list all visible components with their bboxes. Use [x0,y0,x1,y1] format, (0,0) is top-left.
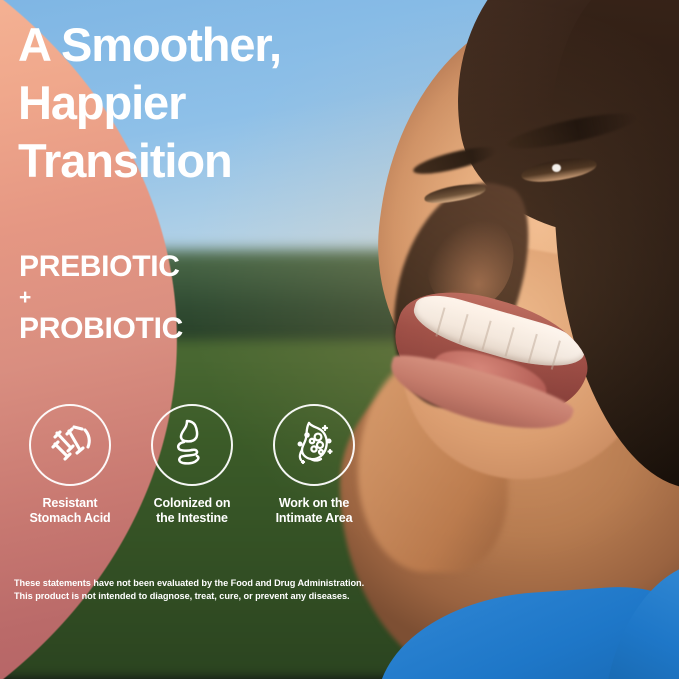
feature-label: Colonized on the Intestine [154,496,231,526]
feature-item: Resistant Stomach Acid [14,404,126,526]
feature-icon-circle [29,404,111,486]
bacteria-rods-icon [44,417,96,474]
disclaimer-line-2: This product is not intended to diagnose… [14,590,364,603]
subheadline-prebiotic: PREBIOTIC [19,249,183,284]
subheadline: PREBIOTIC + PROBIOTIC [19,249,183,346]
feature-icon-circle [151,404,233,486]
feature-item: Work on the Intimate Area [258,404,370,526]
page-title: A Smoother, Happier Transition [18,16,318,190]
feature-label: Work on the Intimate Area [276,496,353,526]
stomach-bacteria-icon [287,417,341,474]
feature-item: Colonized on the Intestine [136,404,248,526]
headline-line-1: A Smoother, [18,16,318,74]
fda-disclaimer: These statements have not been evaluated… [14,577,364,603]
feature-list: Resistant Stomach Acid [14,404,370,526]
subheadline-probiotic: PROBIOTIC [19,311,183,346]
product-marketing-image: A Smoother, Happier Transition PREBIOTIC… [0,0,679,679]
eye-highlight [552,164,561,172]
disclaimer-line-1: These statements have not been evaluated… [14,577,364,590]
panel-content: A Smoother, Happier Transition PREBIOTIC… [0,0,440,679]
subheadline-plus: + [19,284,183,311]
feature-label: Resistant Stomach Acid [29,496,110,526]
headline-line-2: Happier [18,74,318,132]
intestine-icon [168,417,216,474]
headline-line-3: Transition [18,132,318,190]
feature-icon-circle [273,404,355,486]
